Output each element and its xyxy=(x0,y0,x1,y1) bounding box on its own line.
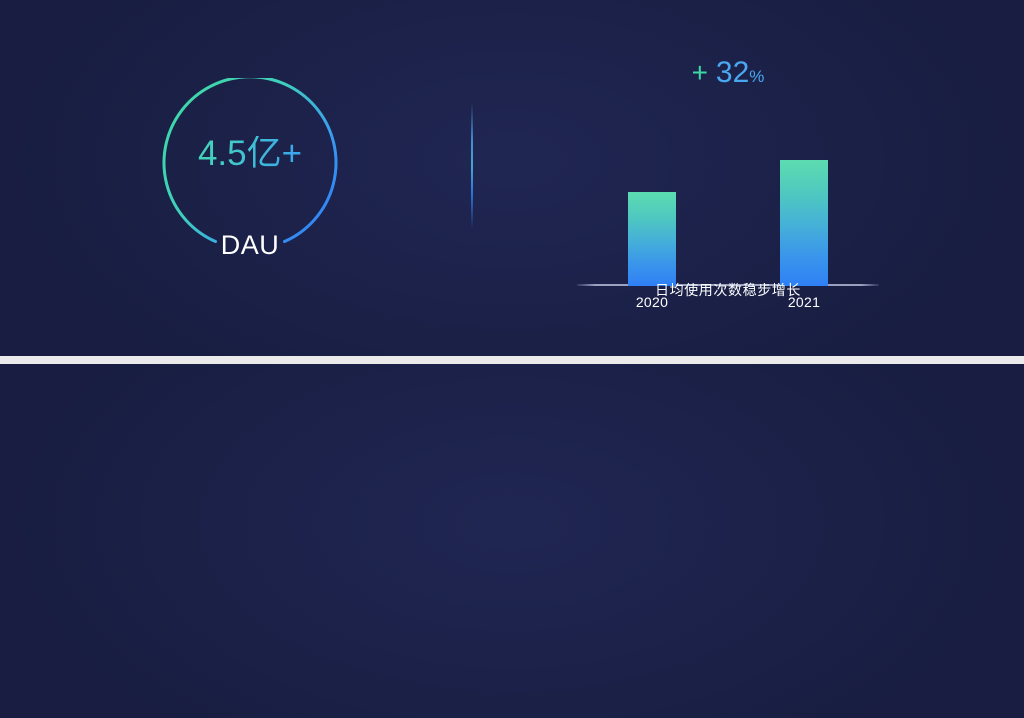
top-panel: 4.5亿+ DAU +32% 2020 2021 日均使用次数稳步增长 xyxy=(0,0,1024,356)
chart-usage: +32% 2020 2021 日均使用次数稳步增长 xyxy=(522,58,934,298)
dau-gauge: 4.5亿+ DAU xyxy=(148,78,352,268)
dau-value: 4.5亿+ xyxy=(148,136,352,171)
growth-plus-sign: + xyxy=(692,57,708,88)
plot-area-usage: 2020 2021 xyxy=(522,106,934,288)
growth-percent-sign: % xyxy=(749,67,764,86)
bar-2021 xyxy=(780,160,828,286)
bar-2020 xyxy=(628,192,676,286)
growth-label-usage: +32% xyxy=(522,58,934,88)
vertical-divider-top xyxy=(471,103,473,229)
bottom-panel: +41% 2020 2021 活跃小程序稳步增长 +28% 2020 xyxy=(0,364,1024,718)
dau-label: DAU xyxy=(148,230,352,261)
horizontal-divider-band xyxy=(0,356,1024,364)
growth-number: 32 xyxy=(716,56,749,89)
chart-caption-usage: 日均使用次数稳步增长 xyxy=(522,280,934,300)
slide-canvas: 4.5亿+ DAU +32% 2020 2021 日均使用次数稳步增长 +4 xyxy=(0,0,1024,718)
